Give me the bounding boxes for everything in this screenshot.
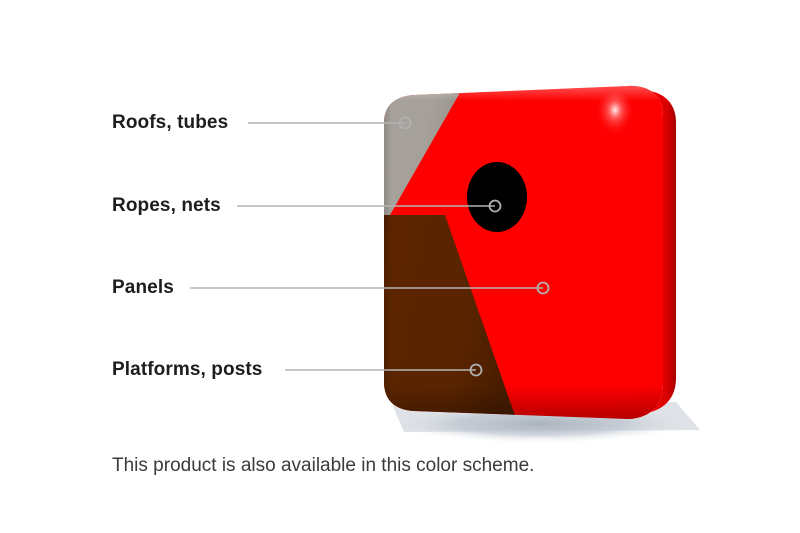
specular-highlight [595, 84, 635, 136]
caption-text: This product is also available in this c… [112, 456, 534, 475]
callout-label-platforms-posts: Platforms, posts [112, 360, 262, 379]
callout-label-panels: Panels [112, 278, 174, 297]
product-illustration [0, 0, 800, 533]
region-black [467, 162, 527, 232]
callout-label-roofs-tubes: Roofs, tubes [112, 113, 228, 132]
diagram-canvas: Roofs, tubes Ropes, nets Panels Platform… [0, 0, 800, 533]
product-front-face [370, 75, 680, 430]
callout-label-ropes-nets: Ropes, nets [112, 196, 221, 215]
